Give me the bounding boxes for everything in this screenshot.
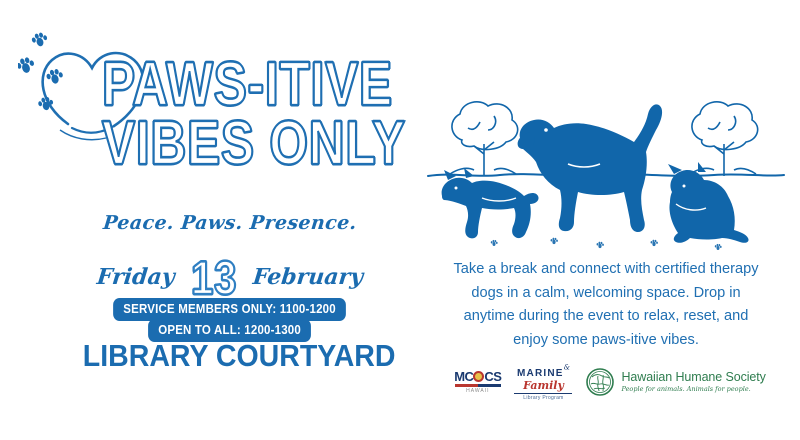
description-text: Take a break and connect with certified … [428, 258, 784, 353]
day-of-week: Friday [96, 264, 176, 290]
dog-small-left [442, 168, 539, 238]
headline-line-1: PAWS-ITIVE [102, 56, 358, 113]
script-tagline: Peace. Paws. Presence. [69, 212, 391, 234]
headline-block: PAWS-ITIVE VIBES ONLY [70, 56, 390, 172]
marine-divider [514, 393, 572, 394]
sponsor-logo-strip: MC CS HAWAII MARINE& Family Library Prog… [440, 362, 780, 402]
three-dogs-illustration [422, 92, 790, 260]
marine-sublabel: Library Program [523, 395, 563, 401]
venue-name: LIBRARY COURTYARD [83, 338, 377, 374]
description-line-4: enjoy some paws-itive vibes. [428, 329, 784, 353]
day-number: 13 [191, 254, 237, 301]
headline-line-2: VIBES ONLY [102, 115, 358, 172]
hhs-text-block: Hawaiian Humane Society People for anima… [621, 371, 765, 394]
globe-with-animals-icon [585, 367, 615, 397]
tree-left-icon [450, 102, 518, 176]
dog-large-center [518, 104, 662, 232]
hhs-tagline: People for animals. Animals for people. [621, 385, 765, 393]
description-line-2: dogs in a calm, welcoming space. Drop in [428, 282, 784, 306]
marine-family-text: Family [523, 380, 564, 392]
paw-print-icon [18, 31, 64, 112]
left-column: PAWS-ITIVE VIBES ONLY Peace. Paws. Prese… [0, 0, 410, 440]
marine-ampersand: & [564, 363, 570, 371]
right-column: Take a break and connect with certified … [410, 0, 800, 440]
logo-mccs: MC CS HAWAII [454, 370, 501, 395]
marine-text: MARINE [517, 368, 564, 379]
eagle-globe-anchor-icon [473, 371, 484, 382]
mccs-stripe [455, 384, 501, 387]
time-badges: SERVICE MEMBERS ONLY: 1100-1200 OPEN TO … [70, 298, 390, 342]
mccs-sublabel: HAWAII [466, 388, 489, 394]
mccs-text-left: MC [454, 370, 473, 383]
logo-hawaiian-humane-society: Hawaiian Humane Society People for anima… [585, 367, 765, 397]
date-row: Friday 13 February [70, 256, 390, 298]
description-line-3: anytime during the event to relax, reset… [428, 305, 784, 329]
logo-marine-family: MARINE& Family Library Program [514, 363, 572, 402]
mccs-wordmark: MC CS [454, 370, 501, 383]
poster-canvas: PAWS-ITIVE VIBES ONLY Peace. Paws. Prese… [0, 0, 800, 440]
mccs-text-right: CS [484, 370, 501, 383]
badge-service-members: SERVICE MEMBERS ONLY: 1100-1200 [114, 298, 347, 321]
description-line-1: Take a break and connect with certified … [428, 258, 784, 282]
month-name: February [252, 264, 365, 290]
hhs-name: Hawaiian Humane Society [621, 371, 765, 385]
